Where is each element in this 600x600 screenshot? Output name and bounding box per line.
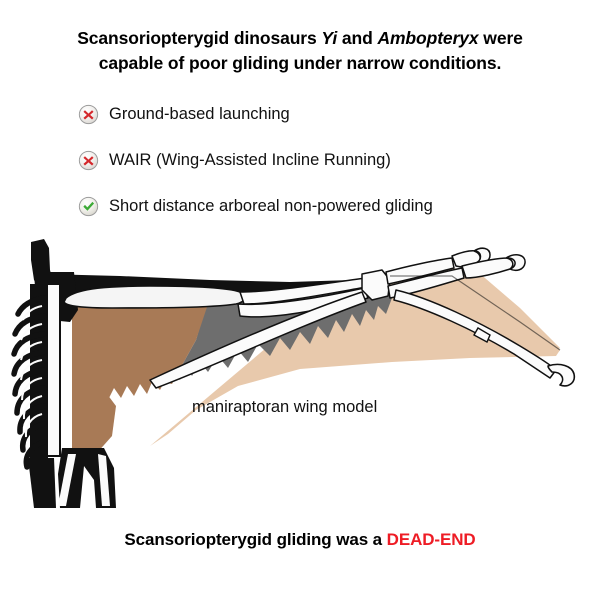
taxon-name-yi: Yi xyxy=(321,28,337,48)
title-line-2: capable of poor gliding under narrow con… xyxy=(0,51,600,76)
scansoriopterygid-gliding-figure: Scansoriopterygid dinosaurs Yi and Ambop… xyxy=(0,0,600,600)
title-text-mid: and xyxy=(337,28,377,48)
conclusion-statement: Scansoriopterygid gliding was a DEAD-END xyxy=(0,530,600,550)
humerus-bone xyxy=(64,286,245,308)
capability-list: Ground-based launching WAIR (Wing-Assist… xyxy=(78,102,578,240)
hindlimb-silhouette-second xyxy=(28,458,56,508)
taxon-name-ambopteryx: Ambopteryx xyxy=(377,28,478,48)
title-text-pre: Scansoriopterygid dinosaurs xyxy=(77,28,321,48)
title-text-post: were xyxy=(479,28,523,48)
wing-model-caption: maniraptoran wing model xyxy=(192,398,377,417)
conclusion-highlight: DEAD-END xyxy=(387,530,476,549)
wing-diagram-svg xyxy=(0,236,600,508)
list-item-arboreal-gliding: Short distance arboreal non-powered glid… xyxy=(78,194,578,218)
check-circle-icon xyxy=(78,196,99,217)
list-item-label: Ground-based launching xyxy=(109,106,290,123)
title-line-1: Scansoriopterygid dinosaurs Yi and Ambop… xyxy=(0,26,600,51)
maniraptoran-wing-illustration xyxy=(0,236,600,508)
page-title: Scansoriopterygid dinosaurs Yi and Ambop… xyxy=(0,26,600,77)
list-item-label: Short distance arboreal non-powered glid… xyxy=(109,198,433,215)
conclusion-prefix: Scansoriopterygid gliding was a xyxy=(124,530,386,549)
cross-circle-icon xyxy=(78,150,99,171)
list-item-ground-based-launching: Ground-based launching xyxy=(78,102,578,126)
brown-ventral-plumage xyxy=(76,386,116,458)
list-item-wair: WAIR (Wing-Assisted Incline Running) xyxy=(78,148,578,172)
cross-circle-icon xyxy=(78,104,99,125)
list-item-label: WAIR (Wing-Assisted Incline Running) xyxy=(109,152,391,169)
